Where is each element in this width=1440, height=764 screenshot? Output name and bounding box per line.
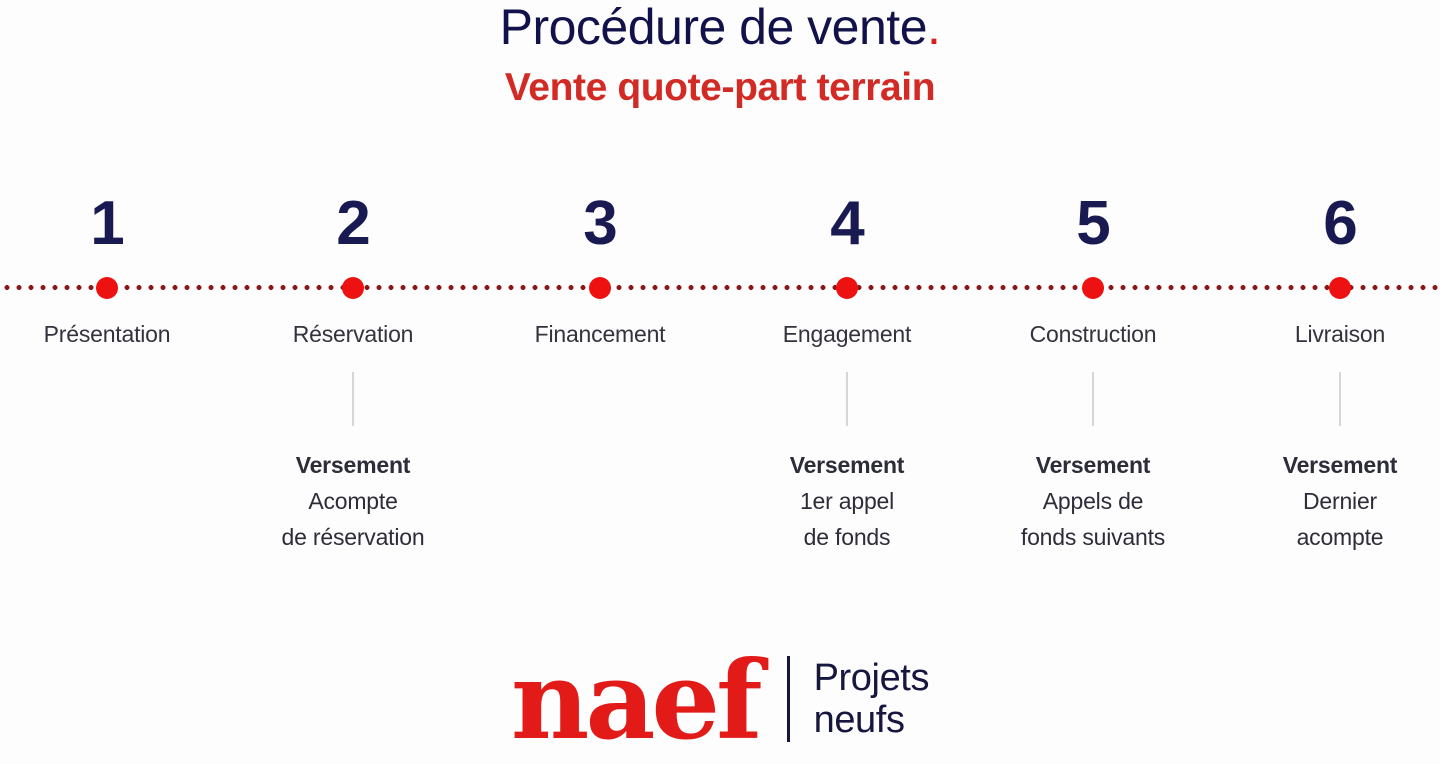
step-marker-dot[interactable] (342, 277, 364, 299)
step-number: 3 (470, 193, 730, 255)
step-marker-dot[interactable] (1082, 277, 1104, 299)
step-marker-dot[interactable] (1329, 277, 1351, 299)
payment-block: Versement Dernier acompte (1210, 447, 1440, 555)
logo-tagline-line1: Projets (814, 657, 929, 699)
payment-line: Dernier (1210, 483, 1440, 519)
step-number: 6 (1210, 193, 1440, 255)
logo-tagline: Projets neufs (814, 657, 929, 741)
payment-title: Versement (717, 447, 977, 483)
payment-block: Versement 1er appel de fonds (717, 447, 977, 555)
payment-connector-line (1092, 372, 1094, 426)
payment-line: 1er appel (717, 483, 977, 519)
payment-line: fonds suivants (963, 519, 1223, 555)
logo-inner: naef Projets neufs (511, 630, 929, 755)
payment-block: Versement Acompte de réservation (223, 447, 483, 555)
step-label: Financement (470, 322, 730, 347)
payment-title: Versement (223, 447, 483, 483)
timeline-dotted-rail (0, 285, 1440, 290)
payment-line: de fonds (717, 519, 977, 555)
step-marker-dot[interactable] (836, 277, 858, 299)
payment-connector-line (352, 372, 354, 426)
step-marker-dot[interactable] (96, 277, 118, 299)
payment-connector-line (1339, 372, 1341, 426)
naef-logo: naef Projets neufs (0, 630, 1440, 761)
payment-line: Acompte (223, 483, 483, 519)
step-marker-dot[interactable] (589, 277, 611, 299)
step-label: Livraison (1210, 322, 1440, 347)
step-label: Construction (963, 322, 1223, 347)
payment-line: acompte (1210, 519, 1440, 555)
naef-wordmark: naef (511, 647, 759, 755)
payment-title: Versement (1210, 447, 1440, 483)
logo-tagline-line2: neufs (814, 699, 929, 741)
step-number: 4 (717, 193, 977, 255)
step-number: 1 (0, 193, 237, 255)
step-label: Réservation (223, 322, 483, 347)
payment-line: Appels de (963, 483, 1223, 519)
payment-line: de réservation (223, 519, 483, 555)
step-label: Engagement (717, 322, 977, 347)
step-number: 5 (963, 193, 1223, 255)
logo-divider (787, 656, 790, 742)
step-label: Présentation (0, 322, 237, 347)
payment-title: Versement (963, 447, 1223, 483)
payment-connector-line (846, 372, 848, 426)
payment-block: Versement Appels de fonds suivants (963, 447, 1223, 555)
step-number: 2 (223, 193, 483, 255)
